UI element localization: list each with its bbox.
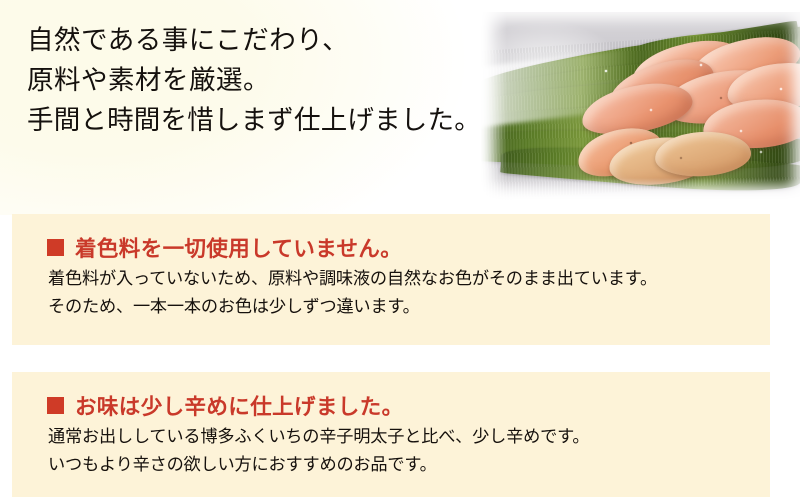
panel-body-line: 通常お出ししている博多ふくいちの辛子明太子と比べ、少し辛めです。: [48, 423, 589, 451]
info-panel-slightly-spicy: お味は少し辛めに仕上げました。 通常お出ししている博多ふくいちの辛子明太子と比べ…: [12, 372, 770, 497]
panel-heading-text: 着色料を一切使用していません。: [75, 232, 402, 263]
panel-heading: 着色料を一切使用していません。: [47, 232, 402, 263]
hero-headline-line-1: 自然である事にこだわり、: [27, 21, 477, 61]
square-bullet-icon: [47, 239, 64, 256]
product-description-page: 自然である事にこだわり、 原料や素材を厳選。 手間と時間を惜しまず仕上げました。: [0, 0, 800, 497]
panel-body-line: 着色料が入っていないため、原料や調味液の自然なお色がそのまま出ています。: [48, 265, 657, 293]
hero-headline-line-3: 手間と時間を惜しまず仕上げました。: [27, 101, 477, 141]
square-bullet-icon: [47, 397, 64, 414]
info-panel-no-coloring-agent: 着色料を一切使用していません。 着色料が入っていないため、原料や調味液の自然なお…: [12, 214, 770, 345]
panel-body-line: いつもより辛さの欲しい方におすすめのお品です。: [48, 451, 589, 479]
hero-headline: 自然である事にこだわり、 原料や素材を厳選。 手間と時間を惜しまず仕上げました。: [27, 21, 477, 141]
panel-heading: お味は少し辛めに仕上げました。: [47, 390, 404, 421]
panel-body: 通常お出ししている博多ふくいちの辛子明太子と比べ、少し辛めです。 いつもより辛さ…: [48, 423, 589, 479]
panel-body-line: そのため、一本一本のお色は少しずつ違います。: [48, 293, 657, 321]
hero-headline-line-2: 原料や素材を厳選。: [27, 61, 477, 101]
product-photo: [481, 12, 800, 200]
product-photo-frame: [477, 8, 800, 202]
panel-body: 着色料が入っていないため、原料や調味液の自然なお色がそのまま出ています。 そのた…: [48, 265, 657, 321]
panel-heading-text: お味は少し辛めに仕上げました。: [75, 390, 404, 421]
